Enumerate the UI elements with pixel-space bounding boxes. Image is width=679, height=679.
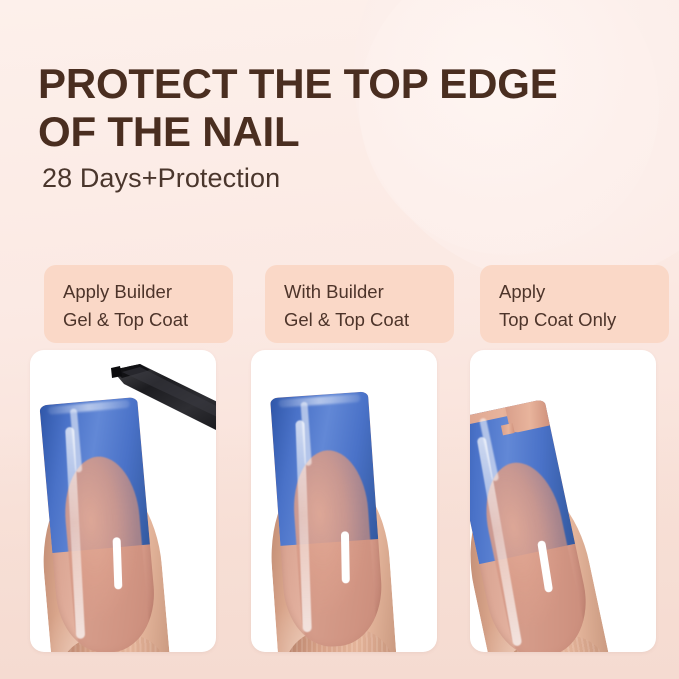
finger-with-nail [260, 391, 401, 652]
comparison-cards: Apply Builder Gel & Top Coat [0, 258, 679, 658]
nail-plate [270, 391, 385, 649]
page-subtitle: 28 Days+Protection [42, 163, 280, 194]
finger-with-nail [470, 397, 623, 652]
photo-stage [30, 350, 216, 652]
card-photo [470, 350, 656, 652]
card-label-line-2: Gel & Top Coat [284, 306, 454, 334]
card-label-line-1: Apply [499, 278, 669, 306]
comparison-card: Apply Top Coat Only [466, 258, 669, 658]
card-label-tab: Apply Builder Gel & Top Coat [44, 265, 233, 343]
photo-stage [470, 350, 656, 652]
finger-with-nail [30, 396, 176, 652]
comparison-card: Apply Builder Gel & Top Coat [30, 258, 233, 658]
card-label-line-1: Apply Builder [63, 278, 233, 306]
promo-poster: PROTECT THE TOP EDGE OF THE NAIL 28 Days… [0, 0, 679, 679]
card-label-tab: Apply Top Coat Only [480, 265, 669, 343]
photo-stage [251, 350, 437, 652]
comparison-card: With Builder Gel & Top Coat [251, 258, 454, 658]
nail-gloss-highlight [341, 531, 350, 583]
page-title: PROTECT THE TOP EDGE OF THE NAIL [38, 60, 648, 156]
card-label-line-1: With Builder [284, 278, 454, 306]
card-label-line-2: Top Coat Only [499, 306, 669, 334]
card-photo [30, 350, 216, 652]
card-label-tab: With Builder Gel & Top Coat [265, 265, 454, 343]
card-photo [251, 350, 437, 652]
card-label-line-2: Gel & Top Coat [63, 306, 233, 334]
